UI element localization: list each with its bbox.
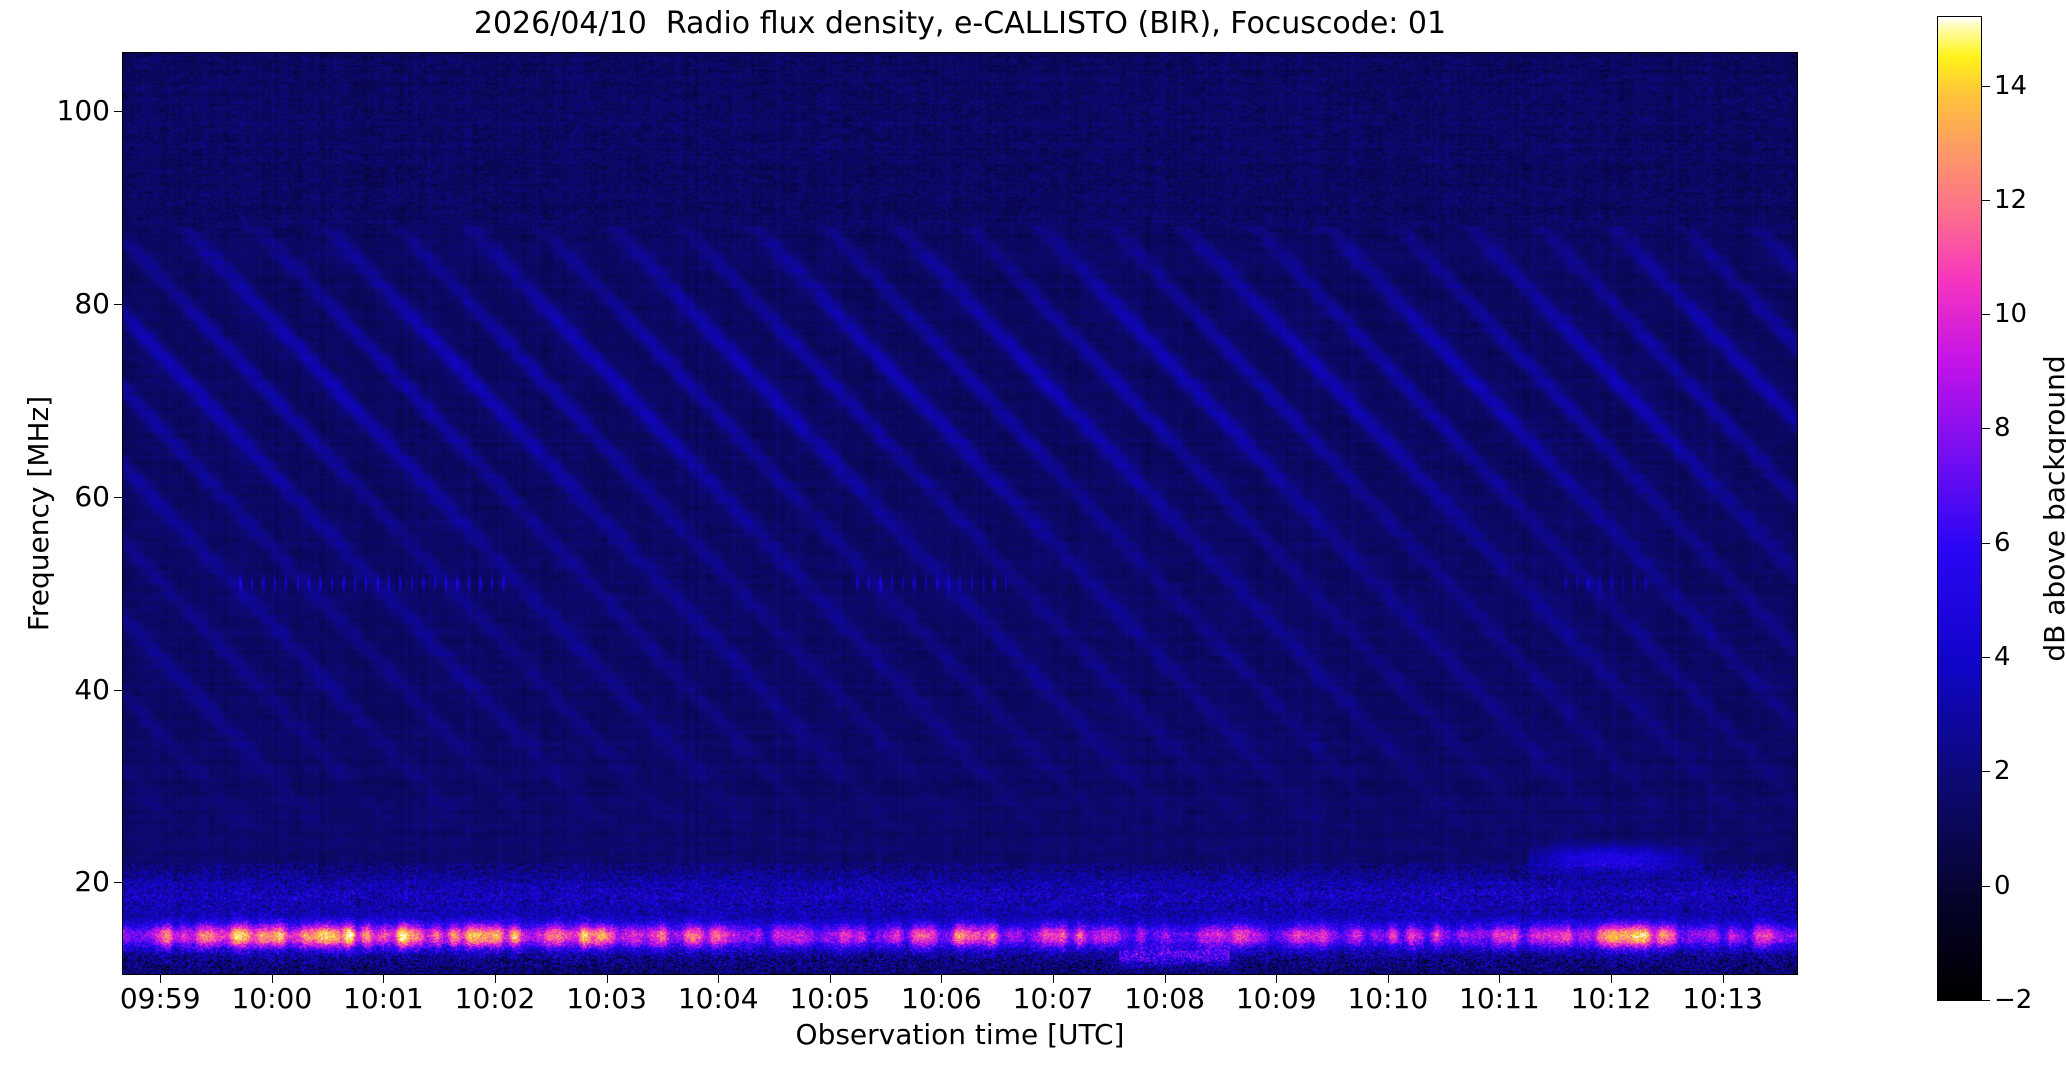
y-tick-mark-80 <box>114 304 122 305</box>
colorbar-gradient <box>1938 17 1981 1000</box>
x-tick-mark-10-05 <box>830 975 831 983</box>
x-tick-mark-10-03 <box>607 975 608 983</box>
colorbar[interactable] <box>1937 16 1982 1001</box>
spectrogram-axes[interactable] <box>122 52 1798 975</box>
x-tick-mark-09-59 <box>160 975 161 983</box>
x-tick-mark-10-01 <box>383 975 384 983</box>
y-tick-label-100: 100 <box>20 94 110 128</box>
colorbar-tick-mark--2 <box>1982 1000 1990 1001</box>
x-tick-mark-10-10 <box>1388 975 1389 983</box>
x-tick-label-10-13: 10:13 <box>1643 982 1803 1016</box>
colorbar-tick-mark-2 <box>1982 771 1990 772</box>
colorbar-tick-mark-10 <box>1982 314 1990 315</box>
x-tick-mark-10-13 <box>1723 975 1724 983</box>
x-axis-label: Observation time [UTC] <box>122 1018 1798 1052</box>
spectrogram-image[interactable] <box>123 53 1797 974</box>
colorbar-tick-mark-6 <box>1982 543 1990 544</box>
colorbar-label: dB above background <box>2038 16 2066 1001</box>
x-tick-mark-10-04 <box>718 975 719 983</box>
x-tick-mark-10-00 <box>272 975 273 983</box>
colorbar-tick-mark-4 <box>1982 657 1990 658</box>
x-tick-mark-10-06 <box>941 975 942 983</box>
figure-canvas: 2026/04/10 Radio flux density, e-CALLIST… <box>0 0 2066 1067</box>
x-tick-mark-10-08 <box>1165 975 1166 983</box>
y-tick-mark-60 <box>114 497 122 498</box>
colorbar-tick-mark-0 <box>1982 886 1990 887</box>
y-tick-mark-100 <box>114 111 122 112</box>
page-title: 2026/04/10 Radio flux density, e-CALLIST… <box>122 4 1798 44</box>
colorbar-tick-mark-14 <box>1982 86 1990 87</box>
y-tick-label-20: 20 <box>20 865 110 899</box>
x-tick-mark-10-11 <box>1499 975 1500 983</box>
y-tick-label-60: 60 <box>20 480 110 514</box>
x-tick-mark-10-12 <box>1611 975 1612 983</box>
colorbar-tick-mark-8 <box>1982 428 1990 429</box>
y-tick-mark-40 <box>114 690 122 691</box>
x-tick-mark-10-02 <box>495 975 496 983</box>
y-tick-label-80: 80 <box>20 287 110 321</box>
x-tick-mark-10-07 <box>1053 975 1054 983</box>
x-tick-mark-10-09 <box>1276 975 1277 983</box>
y-tick-label-40: 40 <box>20 673 110 707</box>
colorbar-tick-mark-12 <box>1982 200 1990 201</box>
y-tick-mark-20 <box>114 882 122 883</box>
